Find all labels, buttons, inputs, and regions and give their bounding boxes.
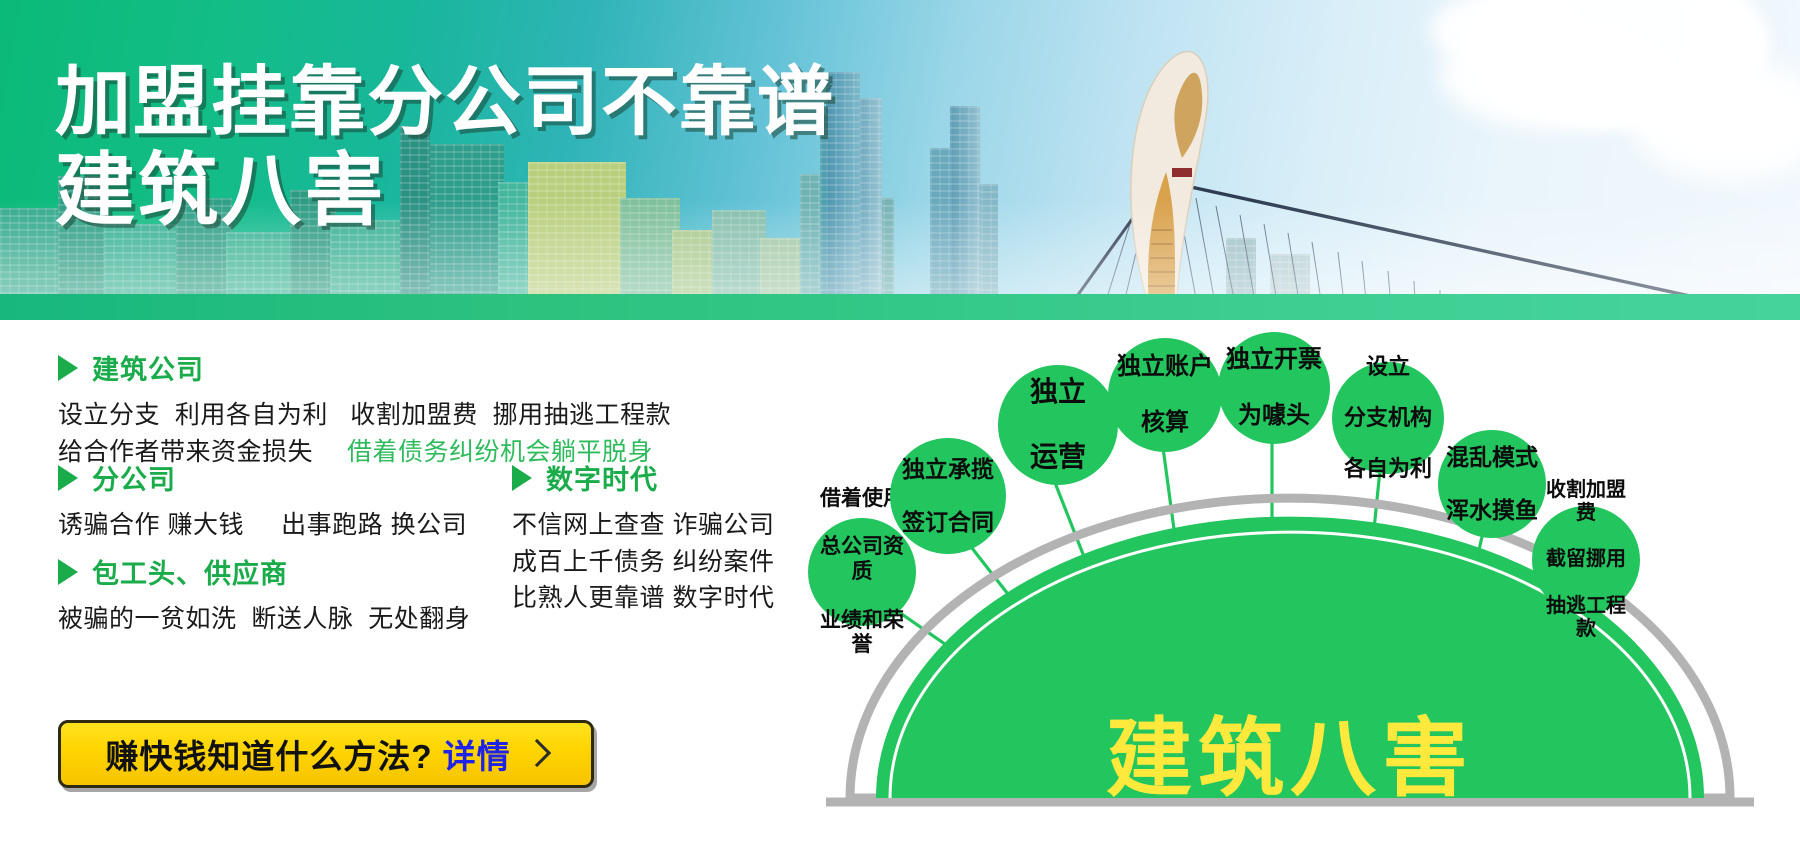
triangle-right-icon [512,465,532,491]
diagram-panel: 建筑八害 借着使用总公司资质业绩和荣誉 独立承揽签订合同 独立运营 独立账户核算… [790,320,1800,844]
section-title: 建筑公司 [92,348,204,387]
bubble-independent-account[interactable]: 独立账户核算 [1108,338,1222,452]
section-heading: 数字时代 [512,458,774,497]
bubble-setup-branch[interactable]: 设立分支机构各自为利 [1332,362,1444,474]
triangle-right-icon [58,355,78,381]
section-heading: 分公司 [58,458,467,497]
section-heading: 包工头、供应商 [58,552,470,591]
section-body-line: 被骗的一贫如洗 断送人脉 无处翻身 [58,601,470,638]
cta-detail-link[interactable]: 详情 [443,730,511,778]
section-contractor-supplier: 包工头、供应商 被骗的一贫如洗 断送人脉 无处翻身 [58,552,470,638]
section-title: 数字时代 [546,458,658,497]
bubble-text: 设立分支机构各自为利 [1336,354,1440,482]
bubble-independent-contract[interactable]: 独立承揽签订合同 [890,438,1006,554]
section-body-line: 诱骗合作 赚大钱 出事跑路 换公司 [58,507,467,544]
section-body-line: 比熟人更靠谱 数字时代 [512,580,774,617]
bubble-text: 独立账户核算 [1109,353,1221,436]
bubble-text: 收割加盟费截留挪用抽逃工程款 [1532,479,1640,641]
section-body-line: 设立分支 利用各自为利 收割加盟费 挪用抽逃工程款 [58,397,671,434]
dome-label: 建筑八害 [1106,711,1474,807]
hero-title-line2: 建筑八害 [55,145,835,237]
bubble-text: 独立承揽签订合同 [894,456,1002,536]
bubble-chaotic-mode[interactable]: 混乱模式浑水摸鱼 [1438,430,1546,538]
bubble-harvest-fees[interactable]: 收割加盟费截留挪用抽逃工程款 [1532,506,1640,614]
left-content-panel: 建筑公司 设立分支 利用各自为利 收割加盟费 挪用抽逃工程款 给合作者带来资金损… [0,320,790,844]
bubble-text: 独立开票为噱头 [1218,346,1330,429]
hero-banner: 加盟挂靠分公司不靠谱 建筑八害 [0,0,1800,320]
section-body-line: 成百上千债务 纠纷案件 [512,544,774,581]
section-title: 包工头、供应商 [92,552,288,591]
triangle-right-icon [58,465,78,491]
section-heading: 建筑公司 [58,348,671,387]
section-title: 分公司 [92,458,176,497]
section-branch-company: 分公司 诱骗合作 赚大钱 出事跑路 换公司 [58,458,467,544]
cta-main-label: 赚快钱知道什么方法? [105,730,432,778]
bubble-text: 独立运营 [1022,376,1094,473]
poster-root: 加盟挂靠分公司不靠谱 建筑八害 建筑公司 设立分支 利用各自为利 收割加盟费 挪… [0,0,1800,844]
bubble-text: 混乱模式浑水摸鱼 [1438,444,1546,524]
chevron-right-icon [522,739,550,767]
cta-button[interactable]: 赚快钱知道什么方法? 详情 [58,720,594,788]
hero-title-line1: 加盟挂靠分公司不靠谱 [55,60,835,145]
bubble-independent-invoice[interactable]: 独立开票为噱头 [1218,332,1330,444]
bubble-independent-operation[interactable]: 独立运营 [998,365,1118,485]
section-body-line: 不信网上查查 诈骗公司 [512,507,774,544]
hero-green-bar [0,294,1800,320]
hero-title-block: 加盟挂靠分公司不靠谱 建筑八害 [55,60,835,237]
triangle-right-icon [58,559,78,585]
section-digital-era: 数字时代 不信网上查查 诈骗公司 成百上千债务 纠纷案件 比熟人更靠谱 数字时代 [512,458,774,617]
section-construction-company: 建筑公司 设立分支 利用各自为利 收割加盟费 挪用抽逃工程款 给合作者带来资金损… [58,348,671,470]
